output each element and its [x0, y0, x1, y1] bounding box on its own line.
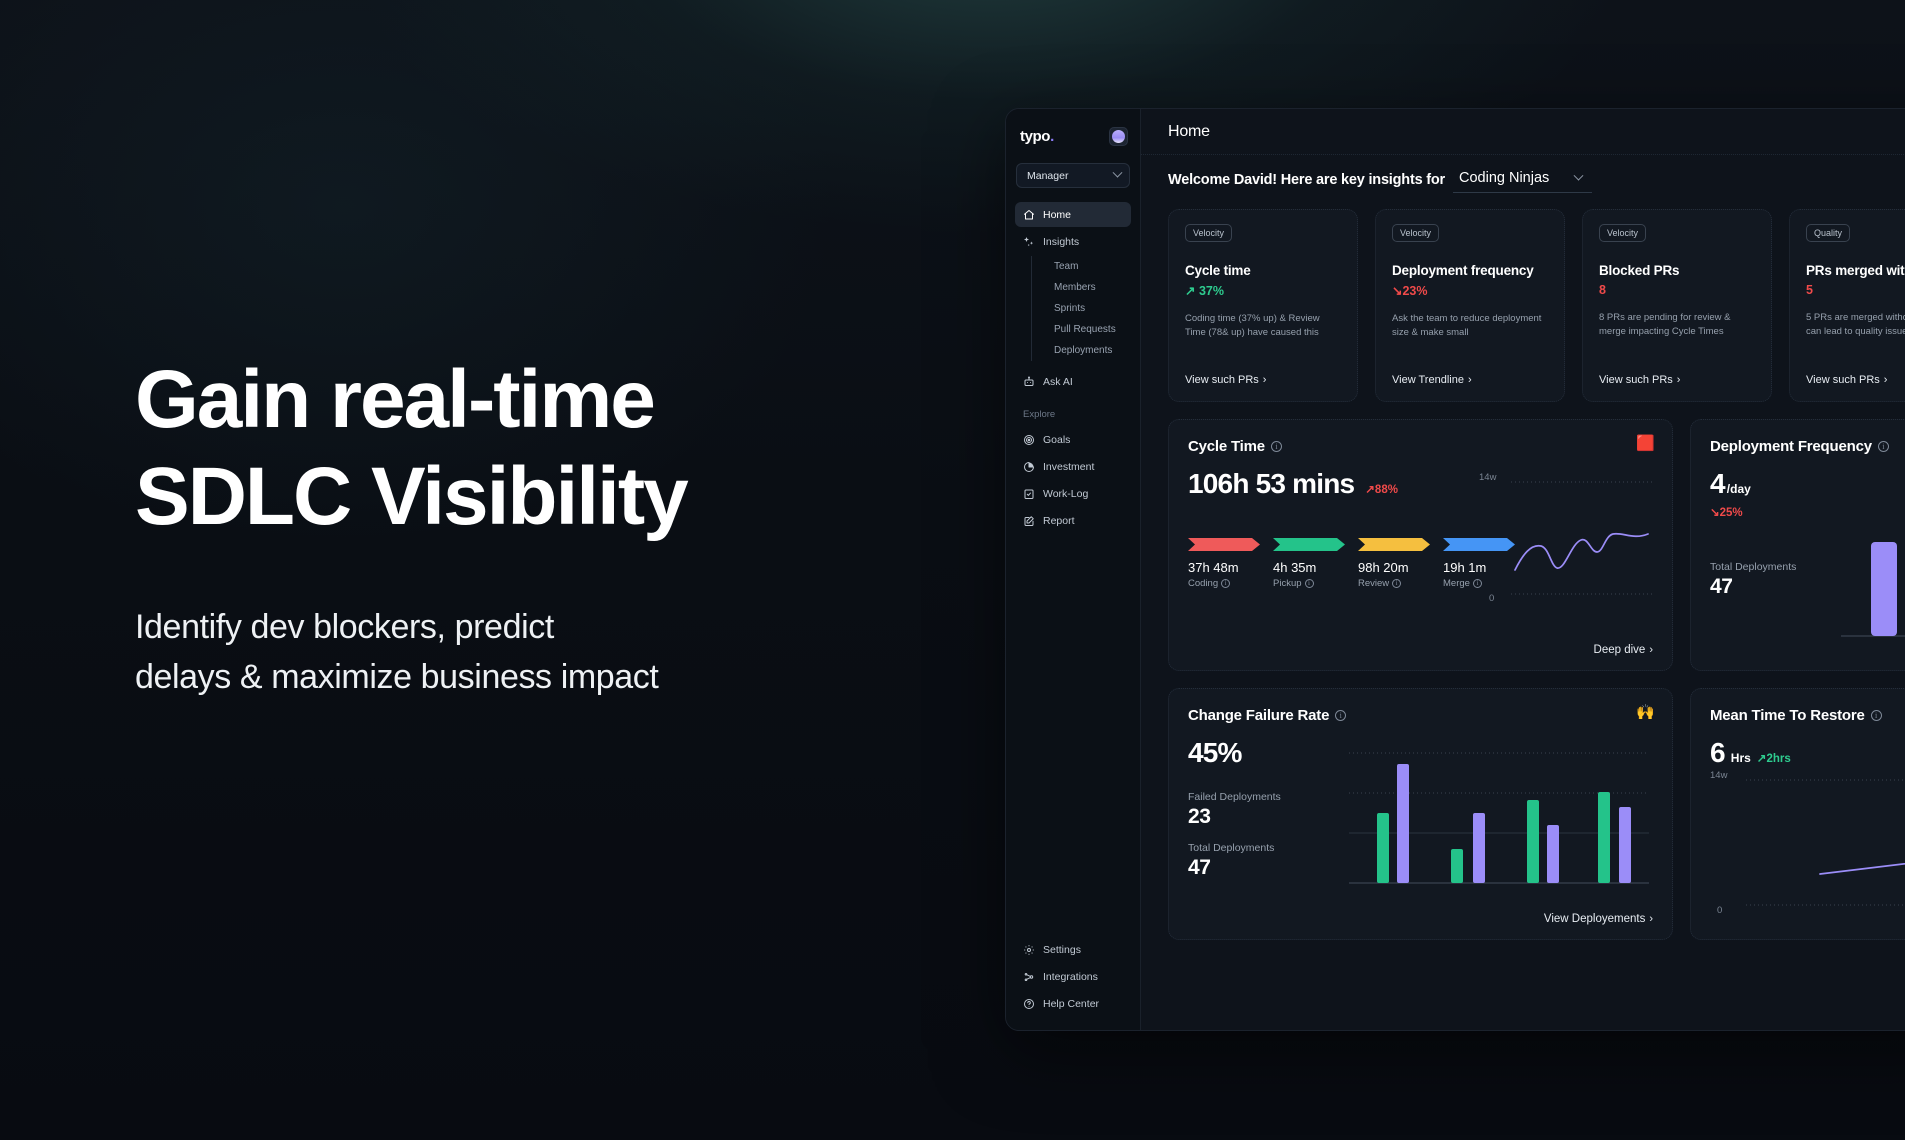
brand-logo[interactable]: typo. — [1020, 128, 1054, 145]
sidebar-item-report[interactable]: Report — [1015, 508, 1131, 533]
chevron-right-icon: › — [1649, 913, 1653, 925]
pie-chart-icon — [1023, 461, 1035, 473]
kpi-card-blocked-prs[interactable]: Velocity Blocked PRs 8 8 PRs are pending… — [1582, 209, 1772, 402]
topbar: Home Weekly — [1141, 109, 1905, 155]
info-icon[interactable]: i — [1221, 579, 1230, 588]
gear-icon — [1023, 944, 1035, 956]
kpi-delta: ↗ 37% — [1185, 283, 1341, 298]
card-header: Change Failure Rate i — [1188, 707, 1653, 724]
card-deployment-frequency: Deployment Frequency i 4 /day ↘25% Total… — [1690, 419, 1905, 671]
deep-dive-label: Deep dive — [1594, 644, 1646, 656]
sidebar-item-integrations[interactable]: Integrations — [1015, 964, 1131, 989]
sidebar-item-help-center-label: Help Center — [1043, 998, 1099, 1010]
card-title: Deployment Frequency — [1710, 438, 1872, 455]
insights-icon — [1023, 236, 1035, 248]
hero-title: Gain real-time SDLC Visibility — [135, 352, 895, 546]
info-icon[interactable]: i — [1473, 579, 1482, 588]
card-unit: Hrs — [1731, 751, 1751, 765]
funnel-value: 4h 35m — [1273, 560, 1345, 575]
info-icon[interactable]: i — [1871, 710, 1882, 721]
sidebar-subitem-team[interactable]: Team — [1054, 256, 1131, 277]
sidebar-subitem-members[interactable]: Members — [1054, 277, 1131, 298]
hero-title-line-1: Gain real-time — [135, 352, 895, 449]
card-value-row: 6 Hrs ↗2hrs — [1710, 737, 1905, 769]
kpi-link[interactable]: View such PRs› — [1806, 374, 1905, 386]
sidebar-item-investment[interactable]: Investment — [1015, 454, 1131, 479]
target-icon — [1023, 434, 1035, 446]
sidebar-item-insights-label: Insights — [1043, 236, 1079, 248]
y-axis-top-label: 14w — [1479, 472, 1496, 483]
funnel-arrow-icon — [1273, 538, 1345, 551]
chevron-down-icon — [1113, 168, 1123, 178]
explore-section-label: Explore — [1006, 409, 1140, 420]
insights-subnav: Team Members Sprints Pull Requests Deplo… — [1031, 256, 1131, 361]
status-emoji-icon: 🟥 — [1636, 436, 1655, 451]
funnel-value: 98h 20m — [1358, 560, 1430, 575]
line-chart-svg — [1710, 777, 1905, 911]
avatar-image — [1112, 130, 1125, 143]
card-delta: ↗2hrs — [1757, 751, 1791, 765]
charts-row-2: Change Failure Rate i 🙌 45% Failed Deplo… — [1168, 688, 1905, 940]
sidebar-item-investment-label: Investment — [1043, 461, 1094, 473]
page-title: Home — [1168, 123, 1210, 141]
explore-nav: Goals Investment Work-Log — [1006, 427, 1140, 535]
funnel-label: Reviewi — [1358, 578, 1430, 589]
sidebar-subitem-sprints[interactable]: Sprints — [1054, 298, 1131, 319]
deep-dive-link[interactable]: Deep dive› — [1594, 644, 1653, 656]
hero-subtitle-line-1: Identify dev blockers, predict — [135, 602, 895, 652]
sparkline-svg — [1493, 478, 1653, 598]
trend-down-icon: ↘ — [1392, 284, 1402, 298]
deployment-frequency-bar-chart — [1841, 464, 1905, 648]
chevron-right-icon: › — [1468, 374, 1472, 386]
hero-subtitle-line-2: delays & maximize business impact — [135, 652, 895, 702]
kpi-card-prs-merged-without-review[interactable]: Quality PRs merged without review 5 5 PR… — [1789, 209, 1905, 402]
card-header: Cycle Time i — [1188, 438, 1653, 455]
view-deployments-link[interactable]: View Deployements› — [1544, 913, 1653, 925]
y-axis-top-label: 14w — [1710, 770, 1727, 781]
card-header: Deployment Frequency i — [1710, 438, 1905, 455]
status-emoji-icon: 🙌 — [1636, 705, 1655, 720]
kpi-link[interactable]: View such PRs› — [1185, 374, 1341, 386]
change-failure-rate-bar-chart — [1349, 745, 1649, 895]
sidebar-item-work-log-label: Work-Log — [1043, 488, 1088, 500]
welcome-text: Welcome David! Here are key insights for — [1168, 172, 1445, 188]
trend-up-icon: ↗ — [1757, 753, 1767, 765]
primary-nav: Home Insights Team Members Sprints Pull … — [1006, 202, 1140, 396]
clipboard-check-icon — [1023, 488, 1035, 500]
y-axis-bottom-label: 0 — [1717, 905, 1722, 916]
funnel-label-text: Pickup — [1273, 578, 1302, 589]
funnel-step-pickup[interactable]: 4h 35m Pickupi — [1273, 538, 1345, 589]
card-delta-value: 2hrs — [1766, 753, 1790, 765]
sidebar-item-settings[interactable]: Settings — [1015, 937, 1131, 962]
hero-subtitle: Identify dev blockers, predict delays & … — [135, 602, 895, 703]
chevron-right-icon: › — [1263, 374, 1267, 386]
sidebar-item-home-label: Home — [1043, 209, 1071, 221]
card-title: Mean Time To Restore — [1710, 707, 1865, 724]
kpi-title: Cycle time — [1185, 263, 1341, 278]
kpi-card-cycle-time[interactable]: Velocity Cycle time ↗ 37% Coding time (3… — [1168, 209, 1358, 402]
sidebar-subitem-pull-requests[interactable]: Pull Requests — [1054, 319, 1131, 340]
kpi-link-label: View Trendline — [1392, 374, 1464, 386]
chevron-right-icon: › — [1677, 374, 1681, 386]
card-mean-time-to-restore: Mean Time To Restore i 6 Hrs ↗2hrs 14w 0 — [1690, 688, 1905, 940]
role-selector-value: Manager — [1027, 170, 1068, 182]
card-primary-value: 106h 53 mins — [1188, 468, 1354, 500]
robot-icon — [1023, 376, 1035, 388]
kpi-link-label: View such PRs — [1599, 374, 1673, 386]
dashboard-content: Velocity Cycle time ↗ 37% Coding time (3… — [1141, 205, 1905, 1030]
card-primary-value: 4 — [1710, 468, 1725, 500]
info-icon[interactable]: i — [1392, 579, 1401, 588]
sidebar-item-goals[interactable]: Goals — [1015, 427, 1131, 452]
card-title: Cycle Time — [1188, 438, 1265, 455]
sidebar-item-help-center[interactable]: Help Center — [1015, 991, 1131, 1016]
hero-section: Gain real-time SDLC Visibility Identify … — [135, 352, 895, 702]
kpi-delta: ↘23% — [1392, 283, 1548, 298]
mean-time-to-restore-line-chart: 14w 0 — [1710, 777, 1905, 911]
home-icon — [1023, 209, 1035, 221]
kpi-delta-value: 5 — [1806, 283, 1813, 297]
team-selector-value: Coding Ninjas — [1459, 170, 1549, 186]
kpi-link-label: View such PRs — [1185, 374, 1259, 386]
hero-title-line-2: SDLC Visibility — [135, 449, 895, 546]
kpi-title: Deployment frequency — [1392, 263, 1548, 278]
card-change-failure-rate: Change Failure Rate i 🙌 45% Failed Deplo… — [1168, 688, 1673, 940]
chevron-right-icon: › — [1884, 374, 1888, 386]
app-window: typo. Manager Home Insigh — [1005, 108, 1905, 1031]
page-root: Gain real-time SDLC Visibility Identify … — [0, 0, 1905, 1140]
kpi-delta-value: 37% — [1199, 284, 1224, 298]
card-delta-value: 88% — [1375, 484, 1398, 496]
view-deployments-label: View Deployements — [1544, 913, 1645, 925]
sidebar-item-insights[interactable]: Insights — [1015, 229, 1131, 254]
funnel-label-text: Review — [1358, 578, 1389, 589]
kpi-description: Coding time (37% up) & Review Time (78& … — [1185, 312, 1341, 341]
card-header: Mean Time To Restore i — [1710, 707, 1905, 724]
role-selector[interactable]: Manager — [1016, 163, 1130, 188]
info-icon[interactable]: i — [1271, 441, 1282, 452]
trend-up-icon: ↗ — [1365, 484, 1375, 496]
sidebar: typo. Manager Home Insigh — [1006, 109, 1141, 1030]
y-axis-bottom-label: 0 — [1489, 593, 1494, 604]
kpi-delta: 5 — [1806, 283, 1905, 297]
funnel-value: 37h 48m — [1188, 560, 1260, 575]
chevron-down-icon — [1574, 170, 1584, 180]
team-selector[interactable]: Coding Ninjas — [1453, 167, 1592, 193]
help-circle-icon — [1023, 998, 1035, 1010]
status-badge: Velocity — [1392, 224, 1439, 242]
welcome-row: Welcome David! Here are key insights for… — [1141, 155, 1905, 205]
avatar[interactable] — [1109, 127, 1128, 146]
brand-dot: . — [1050, 128, 1054, 145]
sidebar-item-goals-label: Goals — [1043, 434, 1070, 446]
trend-down-icon: ↘ — [1710, 507, 1720, 519]
sidebar-subitem-deployments[interactable]: Deployments — [1054, 340, 1131, 361]
funnel-label-text: Coding — [1188, 578, 1218, 589]
sidebar-item-ask-ai[interactable]: Ask AI — [1015, 369, 1131, 394]
sidebar-item-integrations-label: Integrations — [1043, 971, 1098, 983]
status-badge: Velocity — [1185, 224, 1232, 242]
sidebar-item-settings-label: Settings — [1043, 944, 1081, 956]
kpi-delta-value: 8 — [1599, 283, 1606, 297]
bar-chart-svg — [1349, 745, 1649, 895]
info-icon[interactable]: i — [1335, 710, 1346, 721]
kpi-delta: 8 — [1599, 283, 1755, 297]
brand-row: typo. — [1006, 123, 1140, 149]
kpi-link-label: View such PRs — [1806, 374, 1880, 386]
cycle-time-sparkline-chart: 14w 0 — [1493, 478, 1653, 598]
chevron-right-icon: › — [1649, 644, 1653, 656]
bar-chart-svg — [1841, 464, 1905, 648]
kpi-description: Ask the team to reduce deployment size &… — [1392, 312, 1548, 341]
kpi-card-deployment-frequency[interactable]: Velocity Deployment frequency ↘23% Ask t… — [1375, 209, 1565, 402]
sidebar-item-work-log[interactable]: Work-Log — [1015, 481, 1131, 506]
kpi-card-strip: Velocity Cycle time ↗ 37% Coding time (3… — [1168, 205, 1905, 402]
info-icon[interactable]: i — [1305, 579, 1314, 588]
kpi-link[interactable]: View Trendline› — [1392, 374, 1548, 386]
card-delta: ↗88% — [1365, 482, 1398, 496]
funnel-step-review[interactable]: 98h 20m Reviewi — [1358, 538, 1430, 589]
info-icon[interactable]: i — [1878, 441, 1889, 452]
status-badge: Quality — [1806, 224, 1850, 242]
kpi-link[interactable]: View such PRs› — [1599, 374, 1755, 386]
card-title: Change Failure Rate — [1188, 707, 1329, 724]
integrations-icon — [1023, 971, 1035, 983]
sidebar-item-ask-ai-label: Ask AI — [1043, 376, 1073, 388]
kpi-description: 8 PRs are pending for review & merge imp… — [1599, 311, 1755, 340]
sidebar-spacer — [1006, 535, 1140, 937]
status-badge: Velocity — [1599, 224, 1646, 242]
funnel-label: Codingi — [1188, 578, 1260, 589]
kpi-description: 5 PRs are merged without review. This ca… — [1806, 311, 1905, 340]
card-primary-value: 6 — [1710, 737, 1725, 769]
charts-row-1: Cycle Time i 🟥 106h 53 mins ↗88% — [1168, 419, 1905, 671]
main-area: Home Weekly Welcome David! Here are key … — [1141, 109, 1905, 1030]
funnel-label: Pickupi — [1273, 578, 1345, 589]
card-unit: /day — [1727, 482, 1751, 496]
funnel-step-coding[interactable]: 37h 48m Codingi — [1188, 538, 1260, 589]
sidebar-item-report-label: Report — [1043, 515, 1075, 527]
edit-square-icon — [1023, 515, 1035, 527]
card-cycle-time: Cycle Time i 🟥 106h 53 mins ↗88% — [1168, 419, 1673, 671]
brand-text: typo — [1020, 128, 1050, 145]
sidebar-bottom-nav: Settings Integrations Help Center — [1006, 937, 1140, 1018]
sidebar-item-home[interactable]: Home — [1015, 202, 1131, 227]
kpi-title: PRs merged without review — [1806, 263, 1905, 278]
kpi-delta-value: 23% — [1402, 284, 1427, 298]
trend-up-icon: ↗ — [1185, 284, 1195, 298]
card-delta-value: 25% — [1720, 507, 1743, 519]
kpi-title: Blocked PRs — [1599, 263, 1755, 278]
funnel-arrow-icon — [1188, 538, 1260, 551]
funnel-label-text: Merge — [1443, 578, 1470, 589]
card-primary-value: 45% — [1188, 737, 1242, 769]
funnel-arrow-icon — [1358, 538, 1430, 551]
